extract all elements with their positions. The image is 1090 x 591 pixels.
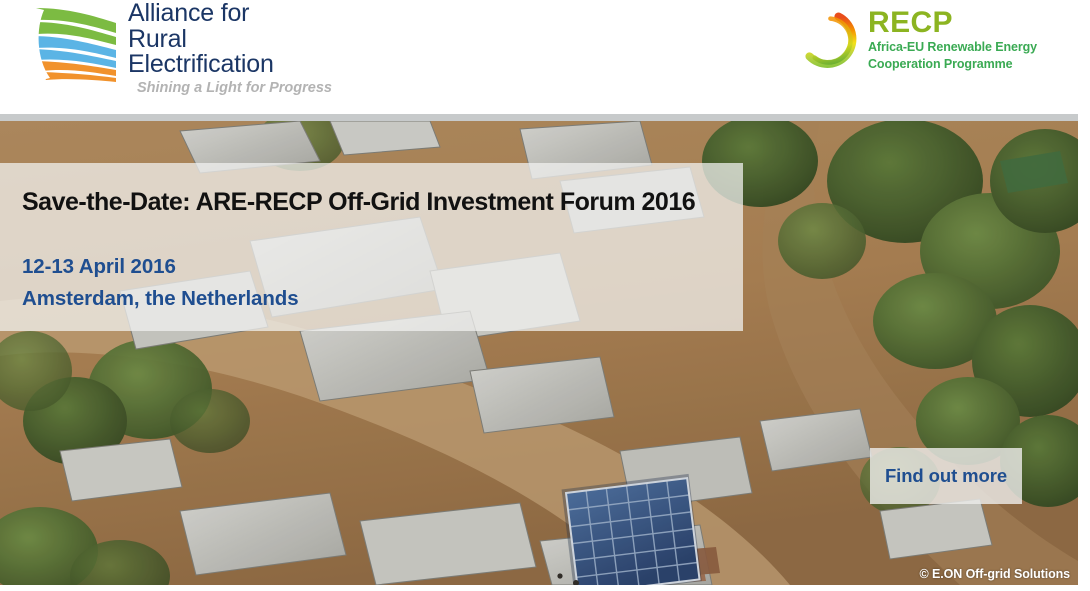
event-banner: Save-the-Date: ARE-RECP Off-Grid Investm…	[0, 121, 1078, 585]
are-line-2: Rural	[128, 27, 332, 53]
header-divider	[0, 114, 1090, 121]
recp-title: RECP	[868, 8, 1037, 38]
find-out-more-button[interactable]: Find out more	[870, 448, 1022, 504]
event-headline: Save-the-Date: ARE-RECP Off-Grid Investm…	[22, 188, 695, 217]
recp-subtitle-line-2: Cooperation Programme	[868, 57, 1037, 72]
photo-credit: © E.ON Off-grid Solutions	[920, 567, 1070, 581]
page-header: Alliance for Rural Electrification Shini…	[0, 0, 1090, 114]
bottom-margin	[0, 585, 1090, 591]
are-tagline: Shining a Light for Progress	[137, 80, 332, 97]
are-line-3: Electrification	[128, 52, 332, 78]
recp-subtitle-line-1: Africa-EU Renewable Energy	[868, 40, 1037, 55]
are-swoosh-mark	[24, 4, 120, 82]
recp-logo[interactable]: RECP Africa-EU Renewable Energy Cooperat…	[790, 6, 1037, 76]
event-date: 12-13 April 2016	[22, 255, 176, 279]
recp-wordmark: RECP Africa-EU Renewable Energy Cooperat…	[868, 8, 1037, 71]
are-wordmark: Alliance for Rural Electrification Shini…	[128, 1, 332, 97]
find-out-more-label: Find out more	[885, 465, 1007, 487]
event-location: Amsterdam, the Netherlands	[22, 287, 299, 311]
are-line-1: Alliance for	[128, 1, 332, 27]
right-margin	[1078, 114, 1090, 591]
are-logo[interactable]: Alliance for Rural Electrification Shini…	[24, 2, 332, 97]
recp-ring-mark	[790, 6, 862, 76]
event-text-panel: Save-the-Date: ARE-RECP Off-Grid Investm…	[0, 163, 743, 331]
